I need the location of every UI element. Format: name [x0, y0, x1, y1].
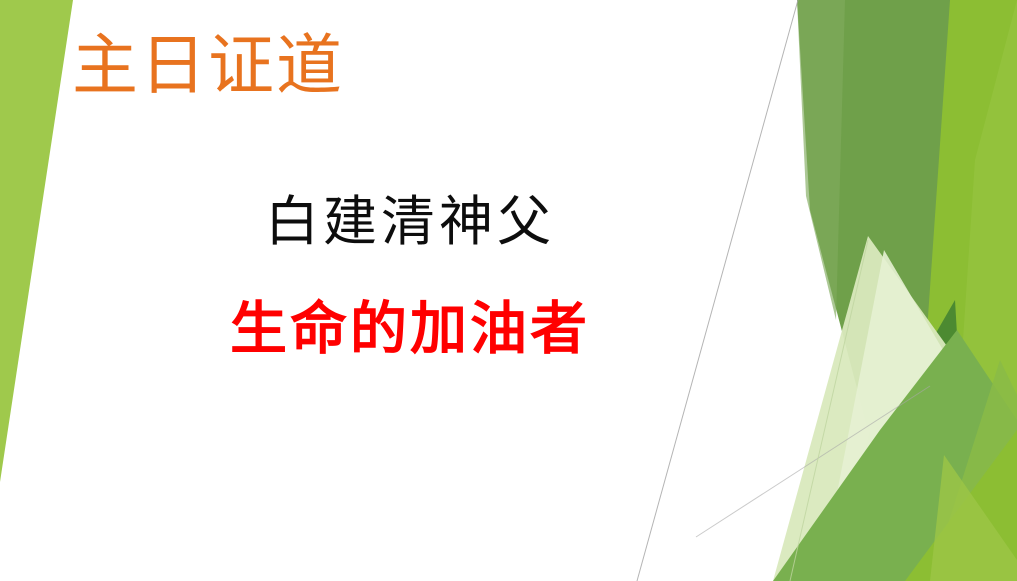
slide-text-layer: 主日证道 白建清神父 生命的加油者 [0, 0, 1017, 581]
presentation-slide: 主日证道 白建清神父 生命的加油者 [0, 0, 1017, 581]
speaker-name: 白建清神父 [0, 194, 820, 251]
slide-title: 主日证道 [72, 34, 344, 100]
sermon-topic: 生命的加油者 [0, 300, 820, 360]
